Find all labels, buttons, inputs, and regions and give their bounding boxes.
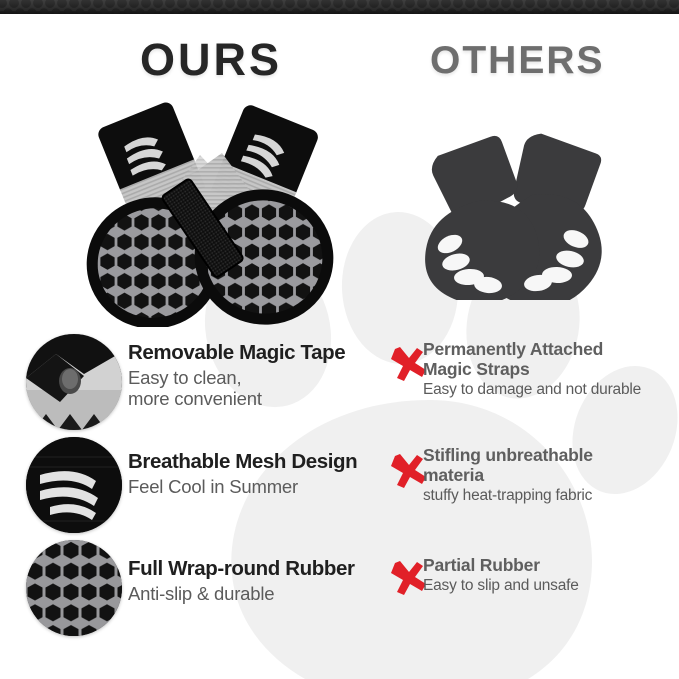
- top-hex-band: [0, 0, 679, 14]
- ours-title: Removable Magic Tape: [128, 342, 390, 365]
- ours-title: Breathable Mesh Design: [128, 451, 390, 474]
- ours-subtitle-line1: Easy to clean,: [128, 367, 390, 388]
- others-title: Stifling unbreathable materia: [423, 446, 673, 486]
- others-title-line2: Magic Straps: [423, 360, 673, 380]
- thumb-magic-tape: [26, 334, 122, 430]
- others-title: Partial Rubber: [423, 556, 673, 576]
- thumb-mesh-design: [26, 437, 122, 533]
- comparison-infographic: OURS OTHERS: [0, 0, 679, 679]
- hero-image-others: [420, 125, 620, 300]
- others-subtitle: stuffy heat-trapping fabric: [423, 487, 673, 505]
- others-feature-2: Stifling unbreathable materia stuffy hea…: [423, 446, 673, 505]
- others-subtitle: Easy to slip and unsafe: [423, 577, 673, 595]
- ours-subtitle: Feel Cool in Summer: [128, 476, 390, 497]
- band-sheen: [0, 0, 679, 14]
- feature-row: Breathable Mesh Design Feel Cool in Summ…: [0, 433, 679, 536]
- ours-subtitle: Anti-slip & durable: [128, 583, 390, 604]
- others-title-line2: materia: [423, 466, 673, 486]
- others-title-line1: Stifling unbreathable: [423, 446, 673, 466]
- hero-image-ours: [82, 95, 340, 327]
- feature-row: Removable Magic Tape Easy to clean, more…: [0, 330, 679, 433]
- ours-subtitle: Easy to clean, more convenient: [128, 367, 390, 410]
- cross-icon: [388, 344, 428, 384]
- ours-title: Full Wrap-round Rubber: [128, 558, 390, 581]
- ours-subtitle-line2: more convenient: [128, 388, 390, 409]
- thumb-honeycomb-rubber: [26, 540, 122, 636]
- feature-rows: Removable Magic Tape Easy to clean, more…: [0, 330, 679, 641]
- others-title: Permanently Attached Magic Straps: [423, 340, 673, 380]
- others-title-line1: Permanently Attached: [423, 340, 673, 360]
- ours-feature-3: Full Wrap-round Rubber Anti-slip & durab…: [128, 558, 390, 604]
- ours-feature-1: Removable Magic Tape Easy to clean, more…: [128, 342, 390, 410]
- header-ours: OURS: [140, 34, 282, 86]
- others-feature-1: Permanently Attached Magic Straps Easy t…: [423, 340, 673, 399]
- feature-row: Full Wrap-round Rubber Anti-slip & durab…: [0, 536, 679, 641]
- cross-icon: [388, 451, 428, 491]
- cross-icon: [388, 558, 428, 598]
- others-subtitle: Easy to damage and not durable: [423, 381, 673, 399]
- ours-feature-2: Breathable Mesh Design Feel Cool in Summ…: [128, 451, 390, 497]
- header-others: OTHERS: [430, 39, 605, 83]
- column-headers: OURS OTHERS: [0, 34, 679, 92]
- others-feature-3: Partial Rubber Easy to slip and unsafe: [423, 556, 673, 595]
